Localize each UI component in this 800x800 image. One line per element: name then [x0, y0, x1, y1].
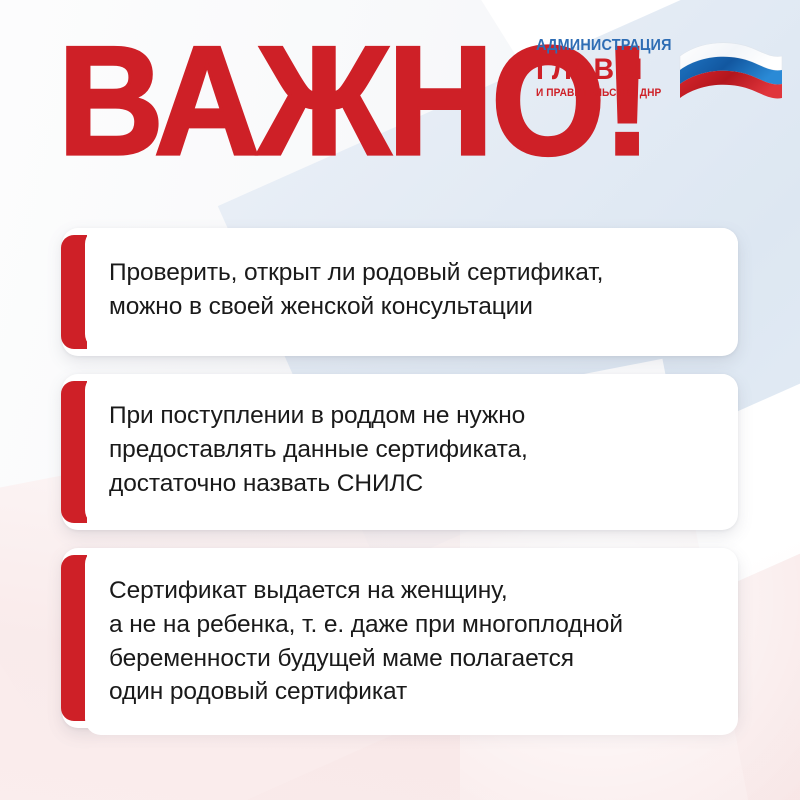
- card-red-tab: [61, 235, 87, 349]
- card-body: При поступлении в роддом не нужно предос…: [85, 374, 738, 526]
- info-card: Проверить, открыт ли родовый сертификат,…: [62, 228, 738, 356]
- card-text: При поступлении в роддом не нужно предос…: [109, 399, 716, 500]
- card-body: Сертификат выдается на женщину, а не на …: [85, 548, 738, 735]
- card-red-tab: [61, 381, 87, 523]
- card-text: Проверить, открыт ли родовый сертификат,…: [109, 256, 716, 324]
- card-body: Проверить, открыт ли родовый сертификат,…: [85, 228, 738, 350]
- card-text: Сертификат выдается на женщину, а не на …: [109, 574, 716, 709]
- poster-canvas: ВАЖНО! АДМИНИСТРАЦИЯ ГЛАВЫ И ПРАВИТЕЛЬСТ…: [0, 0, 800, 800]
- info-card: При поступлении в роддом не нужно предос…: [62, 374, 738, 530]
- card-red-tab: [61, 555, 87, 721]
- info-card: Сертификат выдается на женщину, а не на …: [62, 548, 738, 728]
- cards-list: Проверить, открыт ли родовый сертификат,…: [0, 0, 800, 800]
